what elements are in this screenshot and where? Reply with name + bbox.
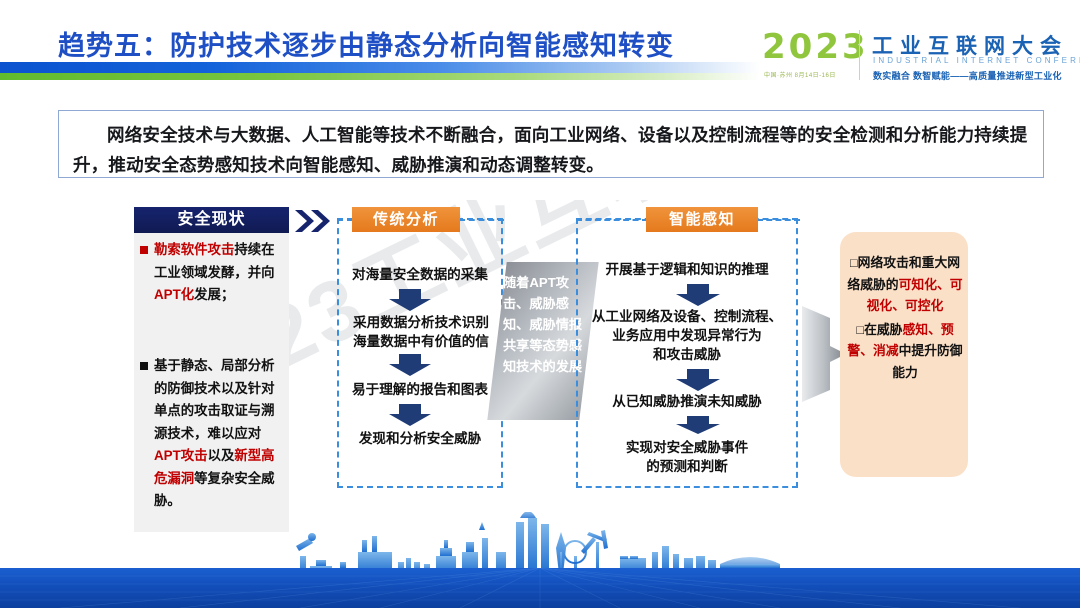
logo-year: 2023 xyxy=(762,28,869,66)
down-arrow-icon xyxy=(676,369,720,391)
flow-step: 开展基于逻辑和知识的推理 xyxy=(580,260,794,279)
panel-dash-left xyxy=(576,219,648,223)
down-arrow-icon xyxy=(389,354,431,376)
panel-dash-right xyxy=(459,219,504,223)
down-arrow-icon xyxy=(389,289,431,311)
panel-dash-right xyxy=(757,219,800,223)
page-title: 趋势五：防护技术逐步由静态分析向智能感知转变 xyxy=(58,24,674,63)
down-arrow-icon xyxy=(676,284,720,306)
flow-step: 对海量安全数据的采集 xyxy=(330,265,510,284)
down-arrow-icon xyxy=(676,416,720,434)
summary-statement-text: 网络安全技术与大数据、人工智能等技术不断融合，面向工业网络、设备以及控制流程等的… xyxy=(73,120,1029,180)
intelligent-perception-caption: 智能感知 xyxy=(646,207,758,232)
conference-logo: 2023 中国·苏州 8月14日-16日 工业互联网大会 INDUSTRIAL … xyxy=(762,28,1072,84)
logo-date: 中国·苏州 8月14日-16日 xyxy=(764,70,836,79)
double-chevron-right-icon xyxy=(294,209,334,233)
outcome-item: □网络攻击和重大网络威胁的可知化、可视化、可控化 xyxy=(846,252,964,317)
header-green-rule xyxy=(0,73,760,80)
city-skyline-decor xyxy=(0,512,1080,574)
list-item: 基于静态、局部分析的防御技术以及针对单点的攻击取证与溯源技术，难以应对APT攻击… xyxy=(140,355,283,513)
header-blue-rule xyxy=(0,62,760,73)
slide-root: 趋势五：防护技术逐步由静态分析向智能感知转变 2023 中国·苏州 8月14日-… xyxy=(0,0,1080,608)
square-bullet-icon: □ xyxy=(850,255,858,270)
list-item: 勒索软件攻击持续在工业领域发酵，并向APT化发展； xyxy=(140,239,283,307)
flow-step: 从工业网络及设备、控制流程、业务应用中发现异常行为和攻击威胁 xyxy=(574,307,800,364)
flow-step: 易于理解的报告和图表 xyxy=(330,380,510,399)
logo-slogan: 数实融合 数智赋能——高质量推进新型工业化 xyxy=(873,69,1062,82)
outcome-item: □在威胁感知、预警、消减中提升防御能力 xyxy=(846,319,964,384)
summary-statement-box: 网络安全技术与大数据、人工智能等技术不断融合，面向工业网络、设备以及控制流程等的… xyxy=(58,110,1044,178)
down-arrow-icon xyxy=(389,404,431,426)
bullet-square-red-icon xyxy=(140,246,148,254)
sea-decor xyxy=(0,568,1080,608)
flow-step: 从已知威胁推演未知威胁 xyxy=(580,392,794,411)
flow-step: 采用数据分析技术识别海量数据中有价值的信 xyxy=(328,313,514,351)
outcome-card-body: □网络攻击和重大网络威胁的可知化、可视化、可控化 □在威胁感知、预警、消减中提升… xyxy=(846,252,964,385)
security-status-panel: 安全现状 勒索软件攻击持续在工业领域发酵，并向APT化发展； 基于静态、局部分析… xyxy=(134,207,289,532)
list-item-text: 基于静态、局部分析的防御技术以及针对单点的攻击取证与溯源技术，难以应对APT攻击… xyxy=(154,355,283,513)
logo-name-en: INDUSTRIAL INTERNET CONFERENCE xyxy=(873,56,1080,65)
list-item-text: 勒索软件攻击持续在工业领域发酵，并向APT化发展； xyxy=(154,239,283,307)
square-bullet-icon: □ xyxy=(856,322,864,337)
traditional-analysis-caption: 传统分析 xyxy=(352,207,460,232)
panel-dash-left xyxy=(337,219,353,223)
flow-step: 发现和分析安全威胁 xyxy=(330,429,510,448)
flow-step: 实现对安全威胁事件的预测和判断 xyxy=(580,438,794,476)
logo-divider xyxy=(859,30,860,80)
security-status-header: 安全现状 xyxy=(134,207,289,233)
bullet-square-black-icon xyxy=(140,362,148,370)
